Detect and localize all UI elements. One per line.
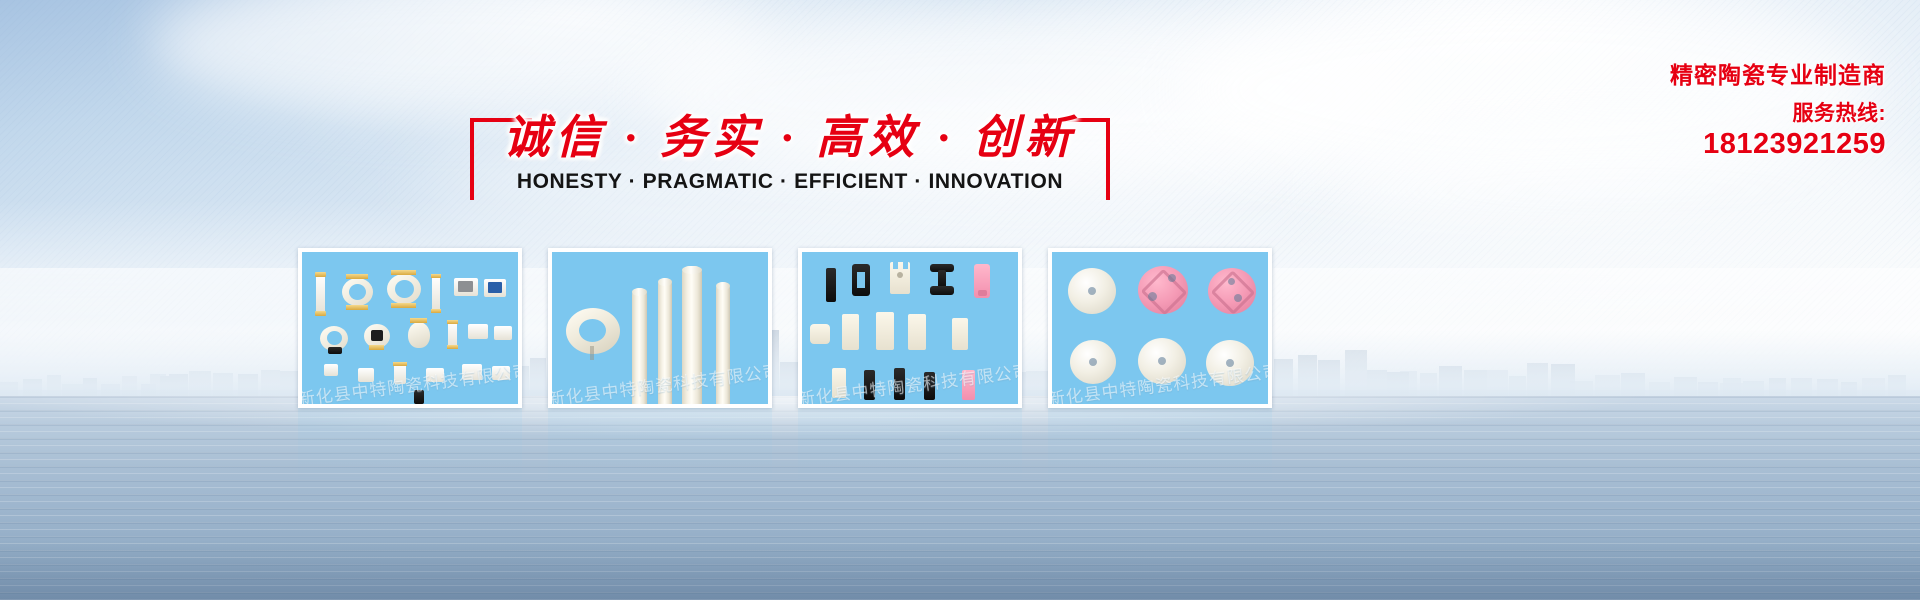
product-part [903, 260, 908, 269]
water-depth-shadow [0, 540, 1920, 600]
product-part [1138, 266, 1188, 314]
product-part [488, 282, 502, 293]
product-part [908, 314, 926, 350]
product-image-black-cream-blocks: 新化县中特陶瓷科技有限公司 [802, 252, 1018, 404]
product-part [387, 274, 421, 304]
product-part [952, 318, 968, 350]
product-part [391, 270, 416, 275]
product-part [810, 324, 830, 344]
product-part [315, 311, 326, 316]
product-part [826, 268, 836, 302]
product-part [431, 274, 441, 278]
product-panel-1[interactable]: 新化县中特陶瓷科技有限公司 [298, 248, 522, 408]
product-image-smd-components: 新化县中特陶瓷科技有限公司 [302, 252, 518, 404]
product-part [315, 272, 326, 277]
hotline-number[interactable]: 18123921259 [1703, 128, 1886, 161]
product-part [897, 272, 903, 278]
slogan-chinese: 诚信 · 务实 · 高效 · 创新 [470, 108, 1110, 168]
product-panel-4[interactable]: 新化县中特陶瓷科技有限公司 [1048, 248, 1272, 408]
slogan-english: HONESTY · PRAGMATIC · EFFICIENT · INNOVA… [410, 170, 1170, 194]
company-tagline: 精密陶瓷专业制造商 [1670, 56, 1886, 90]
product-image-tubes-rings: 新化县中特陶瓷科技有限公司 [552, 252, 768, 404]
water-shine [0, 396, 1920, 476]
product-part [978, 290, 987, 296]
product-part [410, 318, 427, 323]
product-part [857, 272, 865, 288]
product-part [447, 345, 458, 349]
product-part [391, 303, 416, 308]
product-part [842, 314, 859, 350]
product-part [930, 286, 954, 295]
product-part [342, 278, 373, 306]
product-part [1208, 268, 1256, 314]
product-part [432, 276, 440, 312]
product-part [408, 322, 430, 348]
product-part [468, 324, 488, 339]
product-part [324, 364, 338, 376]
slogan-block: 诚信 · 务实 · 高效 · 创新 HONESTY · PRAGMATIC · … [470, 108, 1110, 208]
product-part [494, 326, 512, 340]
product-part [346, 274, 368, 279]
product-image-ceramic-discs: 新化县中特陶瓷科技有限公司 [1052, 252, 1268, 404]
product-part [346, 305, 368, 310]
product-panel-2[interactable]: 新化县中特陶瓷科技有限公司 [548, 248, 772, 408]
product-panel-3[interactable]: 新化县中特陶瓷科技有限公司 [798, 248, 1022, 408]
product-watermark: 新化县中特陶瓷科技有限公司 [802, 356, 1018, 404]
product-part [371, 330, 383, 341]
product-part [458, 281, 473, 292]
product-part [893, 260, 898, 269]
product-part [876, 312, 894, 350]
product-part [369, 345, 384, 350]
product-part [1068, 268, 1116, 314]
product-part [447, 320, 458, 324]
product-part [590, 346, 594, 360]
hotline-label: 服务热线: [1793, 97, 1887, 127]
product-part [328, 347, 342, 354]
product-part [393, 362, 407, 366]
promo-banner: 诚信 · 务实 · 高效 · 创新 HONESTY · PRAGMATIC · … [0, 0, 1920, 600]
product-part [431, 309, 441, 313]
product-part [316, 274, 325, 314]
